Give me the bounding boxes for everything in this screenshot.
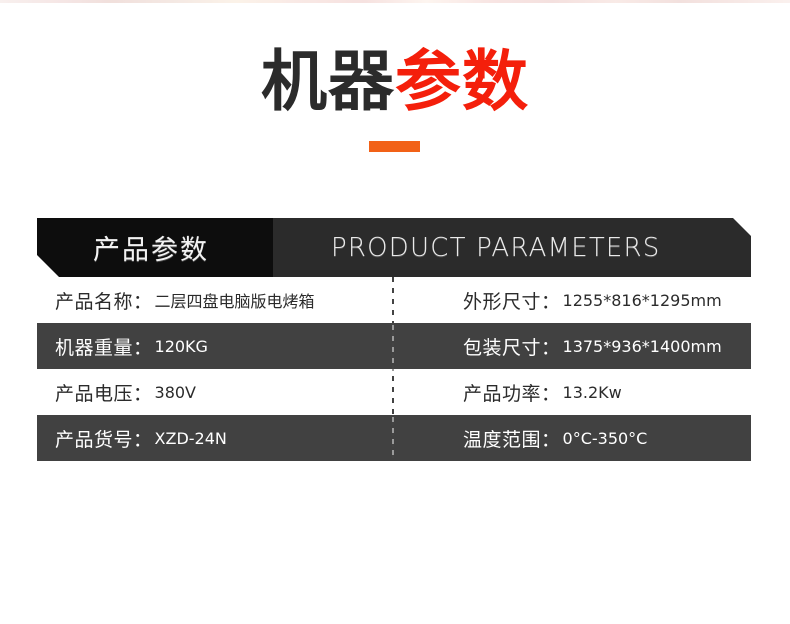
spec-value: 二层四盘电脑版电烤箱 xyxy=(155,288,315,312)
spec-label: 外形尺寸： xyxy=(463,287,561,314)
spec-cell-right: 温度范围： 0°C-350°C xyxy=(394,415,751,461)
top-edge-strip xyxy=(0,0,790,3)
spec-label: 机器重量： xyxy=(55,333,153,360)
spec-label: 产品功率： xyxy=(463,379,561,406)
page-title-red-part: 参数 xyxy=(395,44,529,118)
page-title: 机器参数 xyxy=(0,48,790,114)
title-underline-bar xyxy=(369,141,420,152)
spec-table: 产品名称： 二层四盘电脑版电烤箱 外形尺寸： 1255*816*1295mm 机… xyxy=(37,277,751,461)
column-divider-segment xyxy=(392,417,394,461)
product-parameters-banner: 产品参数 PRODUCT PARAMETERS xyxy=(37,218,751,277)
spec-value: 1375*936*1400mm xyxy=(563,337,722,356)
column-divider-segment xyxy=(392,325,394,371)
banner-left-section: 产品参数 xyxy=(37,218,273,277)
spec-cell-right: 产品功率： 13.2Kw xyxy=(394,369,751,415)
spec-label: 包装尺寸： xyxy=(463,333,561,360)
spec-label: 温度范围： xyxy=(463,425,561,452)
banner-cn-label: 产品参数 xyxy=(93,228,209,267)
spec-cell-left: 产品电压： 380V xyxy=(37,369,394,415)
column-divider xyxy=(392,277,394,461)
spec-cell-right: 包装尺寸： 1375*936*1400mm xyxy=(394,323,751,369)
table-row: 产品货号： XZD-24N 温度范围： 0°C-350°C xyxy=(37,415,751,461)
spec-value: 13.2Kw xyxy=(563,383,622,402)
spec-cell-right: 外形尺寸： 1255*816*1295mm xyxy=(394,277,751,323)
banner-right-section: PRODUCT PARAMETERS xyxy=(273,218,751,277)
table-row: 机器重量： 120KG 包装尺寸： 1375*936*1400mm xyxy=(37,323,751,369)
spec-value: 1255*816*1295mm xyxy=(563,291,722,310)
spec-label: 产品货号： xyxy=(55,425,153,452)
spec-value: 380V xyxy=(155,383,196,402)
table-row: 产品名称： 二层四盘电脑版电烤箱 外形尺寸： 1255*816*1295mm xyxy=(37,277,751,323)
spec-label: 产品名称： xyxy=(55,287,153,314)
page-title-dark-part: 机器 xyxy=(261,44,395,118)
spec-label: 产品电压： xyxy=(55,379,153,406)
spec-cell-left: 产品货号： XZD-24N xyxy=(37,415,394,461)
spec-cell-left: 产品名称： 二层四盘电脑版电烤箱 xyxy=(37,277,394,323)
spec-value: 0°C-350°C xyxy=(563,429,648,448)
spec-cell-left: 机器重量： 120KG xyxy=(37,323,394,369)
spec-value: XZD-24N xyxy=(155,429,227,448)
table-row: 产品电压： 380V 产品功率： 13.2Kw xyxy=(37,369,751,415)
spec-value: 120KG xyxy=(155,337,208,356)
banner-en-label: PRODUCT PARAMETERS xyxy=(331,233,661,263)
